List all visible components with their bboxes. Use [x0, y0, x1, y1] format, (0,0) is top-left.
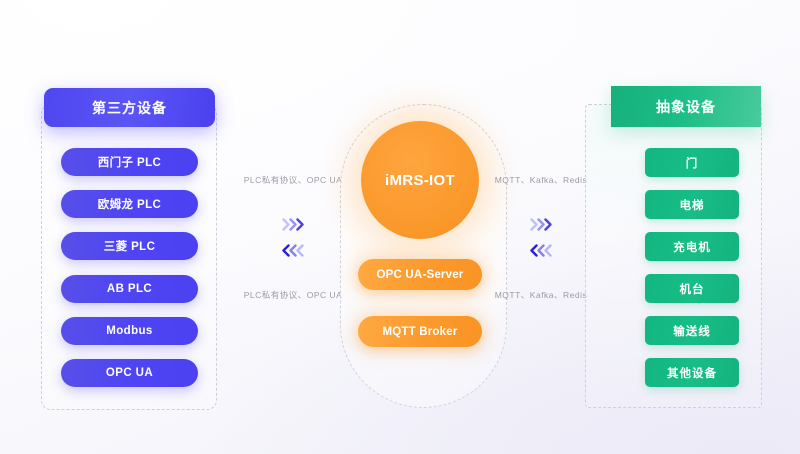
abstract-device-elevator[interactable]: 电梯	[645, 190, 739, 219]
core-platform-label: iMRS-IOT	[385, 172, 455, 189]
chevron-right-icon	[289, 218, 298, 231]
abstract-device-label: 门	[686, 155, 699, 171]
chevron-left-icon	[544, 244, 553, 257]
device-item-ab-plc[interactable]: AB PLC	[61, 275, 198, 303]
abstract-device-label: 充电机	[673, 239, 711, 255]
left-column-header[interactable]: 第三方设备	[44, 88, 215, 127]
device-item-label: 欧姆龙 PLC	[98, 196, 162, 212]
service-item-label: MQTT Broker	[382, 326, 457, 338]
service-item-mqtt-broker[interactable]: MQTT Broker	[358, 316, 482, 347]
device-item-label: AB PLC	[107, 283, 152, 295]
device-item-opc-ua[interactable]: OPC UA	[61, 359, 198, 387]
left-column-header-label: 第三方设备	[92, 98, 167, 118]
abstract-device-machine[interactable]: 机台	[645, 274, 739, 303]
device-item-siemens-plc[interactable]: 西门子 PLC	[61, 148, 198, 176]
device-item-modbus[interactable]: Modbus	[61, 317, 198, 345]
abstract-device-charger[interactable]: 充电机	[645, 232, 739, 261]
device-item-label: 三菱 PLC	[104, 238, 156, 254]
abstract-device-label: 电梯	[680, 197, 705, 213]
device-item-omron-plc[interactable]: 欧姆龙 PLC	[61, 190, 198, 218]
service-item-label: OPC UA-Server	[377, 269, 464, 281]
right-column-header-label: 抽象设备	[656, 97, 716, 117]
abstract-device-other[interactable]: 其他设备	[645, 358, 739, 387]
core-platform-node[interactable]: iMRS-IOT	[361, 121, 479, 239]
diagram-canvas: 第三方设备 西门子 PLC 欧姆龙 PLC 三菱 PLC AB PLC Modb…	[0, 0, 800, 454]
abstract-device-conveyor[interactable]: 输送线	[645, 316, 739, 345]
device-item-label: OPC UA	[106, 367, 153, 379]
device-item-mitsubishi-plc[interactable]: 三菱 PLC	[61, 232, 198, 260]
abstract-device-label: 其他设备	[667, 365, 717, 381]
chevron-right-icon	[537, 218, 546, 231]
abstract-device-label: 输送线	[673, 323, 711, 339]
device-item-label: 西门子 PLC	[98, 154, 162, 170]
service-item-opc-ua-server[interactable]: OPC UA-Server	[358, 259, 482, 290]
chevron-left-icon	[296, 244, 305, 257]
abstract-device-door[interactable]: 门	[645, 148, 739, 177]
abstract-device-label: 机台	[680, 281, 705, 297]
device-item-label: Modbus	[106, 325, 152, 337]
right-column-header[interactable]: 抽象设备	[611, 86, 761, 127]
